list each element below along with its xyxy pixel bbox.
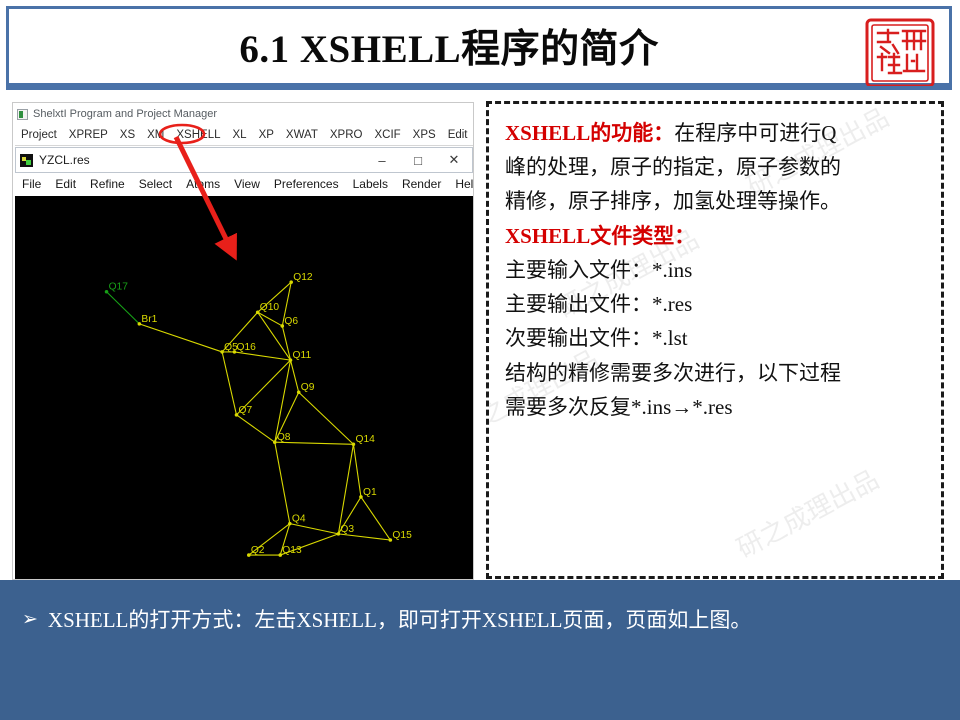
- menu-help-res[interactable]: Help: [448, 177, 474, 191]
- molecule-atom-label: Q8: [277, 432, 291, 443]
- molecule-bond: [353, 444, 361, 497]
- panel-line-6: 主要输出文件：*.res: [505, 287, 927, 321]
- menu-xs[interactable]: XS: [114, 129, 141, 141]
- menu-project[interactable]: Project: [15, 129, 63, 141]
- menu-xshell[interactable]: XSHELL: [170, 129, 226, 141]
- molecule-bond: [258, 312, 283, 326]
- molecule-atom[interactable]: [247, 553, 251, 557]
- close-icon[interactable]: ✕: [436, 152, 472, 168]
- molecule-bond: [139, 324, 222, 352]
- molecule-atom-label: Q13: [282, 545, 302, 556]
- panel-line-1-lead: XSHELL的功能：: [505, 121, 674, 145]
- menu-xm[interactable]: XM: [141, 129, 170, 141]
- watermark-text: 研之成理出品: [729, 460, 884, 566]
- panel-line-5: 主要输入文件：*.ins: [505, 253, 927, 287]
- project-manager-title: ShelxtI Program and Project Manager: [33, 108, 217, 120]
- title-underline: [6, 86, 952, 90]
- res-window-titlebar: YZCL.res – □ ✕: [15, 147, 473, 173]
- menu-xps[interactable]: XPS: [407, 129, 442, 141]
- molecule-bond: [275, 360, 291, 442]
- molecule-atom-label: Q3: [340, 524, 354, 535]
- molecule-bond: [234, 352, 290, 360]
- menu-refine[interactable]: Refine: [83, 177, 132, 191]
- menu-xpro[interactable]: XPRO: [324, 129, 369, 141]
- info-panel: 研之成理出品 研之成理出品 研之成理出品 研之成理出品 XSHELL的功能：在程…: [486, 101, 944, 579]
- molecule-window-icon: [20, 154, 33, 167]
- menu-render[interactable]: Render: [395, 177, 448, 191]
- menu-edit-res[interactable]: Edit: [48, 177, 83, 191]
- menu-xprep[interactable]: XPREP: [63, 129, 114, 141]
- molecule-atom[interactable]: [138, 322, 142, 326]
- molecule-atom[interactable]: [220, 350, 224, 354]
- molecule-atom[interactable]: [281, 324, 285, 328]
- molecule-atom-label: Br1: [141, 314, 157, 325]
- panel-line-1: XSHELL的功能：在程序中可进行Q: [505, 116, 927, 150]
- bottom-bullet: ➢ XSHELL的打开方式：左击XSHELL，即可打开XSHELL页面，页面如上…: [22, 604, 751, 634]
- project-manager-menubar: Project XPREP XS XM XSHELL XL XP XWAT XP…: [15, 125, 473, 145]
- molecule-atom-label: Q6: [284, 316, 298, 327]
- molecule-structure: Q17Br1Q5Q16Q10Q12Q6Q11Q9Q7Q8Q14Q1Q4Q3Q15…: [15, 196, 473, 579]
- molecule-atom[interactable]: [337, 532, 341, 536]
- molecule-atom[interactable]: [359, 495, 363, 499]
- molecule-atom-label: Q11: [293, 350, 312, 361]
- app-screenshot: ShelxtI Program and Project Manager Proj…: [12, 102, 474, 580]
- molecule-atom-label: Q1: [363, 487, 377, 498]
- menu-xl[interactable]: XL: [227, 129, 253, 141]
- molecule-bond: [299, 392, 354, 444]
- panel-line-3: 精修，原子排序，加氢处理等操作。: [505, 184, 927, 218]
- red-seal-icon: [861, 17, 939, 89]
- bullet-marker-icon: ➢: [22, 610, 38, 629]
- menu-xp[interactable]: XP: [253, 129, 280, 141]
- res-window-title: YZCL.res: [39, 153, 90, 167]
- menu-xwat[interactable]: XWAT: [280, 129, 324, 141]
- panel-line-9: 需要多次反复*.ins→*.res: [505, 390, 927, 424]
- molecule-bond: [338, 444, 353, 534]
- molecule-bond: [361, 497, 390, 540]
- molecule-atom[interactable]: [389, 538, 393, 542]
- panel-line-4: XSHELL文件类型：: [505, 219, 927, 253]
- menu-preferences[interactable]: Preferences: [267, 177, 346, 191]
- molecule-atom[interactable]: [289, 358, 293, 362]
- menu-view[interactable]: View: [227, 177, 267, 191]
- menu-atoms[interactable]: Atoms: [179, 177, 227, 191]
- panel-line-8: 结构的精修需要多次进行，以下过程: [505, 356, 927, 390]
- molecule-atom-label: Q2: [251, 545, 265, 556]
- panel-line-1-rest: 在程序中可进行Q: [674, 121, 836, 145]
- molecule-atom[interactable]: [297, 391, 301, 395]
- panel-line-2: 峰的处理，原子的指定，原子参数的: [505, 150, 927, 184]
- molecule-bond: [291, 360, 299, 392]
- molecule-atom[interactable]: [288, 522, 292, 526]
- title-banner: 6.1 XSHELL程序的简介: [6, 6, 952, 86]
- molecule-bond: [107, 292, 140, 324]
- molecule-atom[interactable]: [273, 440, 277, 444]
- molecule-atom[interactable]: [256, 310, 260, 314]
- molecule-bond: [222, 352, 236, 415]
- molecule-bond: [290, 524, 339, 534]
- menu-select[interactable]: Select: [132, 177, 179, 191]
- molecule-atom-label: Q10: [260, 302, 280, 313]
- app-window-icon: [17, 109, 28, 120]
- slide-root: 6.1 XSHELL程序的简介 ShelxtI Program and Proj…: [0, 0, 960, 720]
- page-title: 6.1 XSHELL程序的简介: [9, 9, 949, 83]
- molecule-atom-label: Q4: [292, 514, 306, 525]
- molecule-atom[interactable]: [233, 350, 237, 354]
- menu-xcif[interactable]: XCIF: [368, 129, 406, 141]
- molecule-atom-label: Q15: [392, 530, 412, 541]
- molecule-atom-label: Q16: [236, 342, 256, 353]
- molecule-atom-label: Q17: [109, 282, 129, 293]
- menu-labels[interactable]: Labels: [346, 177, 395, 191]
- minimize-icon[interactable]: –: [364, 153, 400, 168]
- molecule-bond: [236, 415, 274, 442]
- menu-file[interactable]: File: [15, 177, 48, 191]
- maximize-icon[interactable]: □: [400, 153, 436, 168]
- molecule-atom[interactable]: [278, 553, 282, 557]
- molecule-bond: [275, 442, 290, 523]
- molecule-atom[interactable]: [352, 442, 356, 446]
- molecule-atom-label: Q12: [293, 272, 313, 283]
- menu-edit[interactable]: Edit: [442, 129, 474, 141]
- menubar-divider: [15, 145, 473, 146]
- molecule-atom-label: Q9: [301, 382, 315, 393]
- window-controls: – □ ✕: [364, 152, 472, 168]
- panel-line-7: 次要输出文件：*.lst: [505, 321, 927, 355]
- molecule-atom[interactable]: [105, 290, 109, 294]
- project-manager-caption: ShelxtI Program and Project Manager: [17, 105, 217, 123]
- bottom-bar: ➢ XSHELL的打开方式：左击XSHELL，即可打开XSHELL页面，页面如上…: [0, 580, 960, 720]
- molecule-canvas[interactable]: Q17Br1Q5Q16Q10Q12Q6Q11Q9Q7Q8Q14Q1Q4Q3Q15…: [15, 196, 473, 579]
- res-window-menubar: File Edit Refine Select Atoms View Prefe…: [15, 173, 473, 195]
- molecule-atom-label: Q7: [239, 405, 253, 416]
- molecule-atom[interactable]: [235, 413, 239, 417]
- molecule-atom[interactable]: [289, 280, 293, 284]
- molecule-atom-label: Q14: [355, 434, 375, 445]
- bottom-bullet-text: XSHELL的打开方式：左击XSHELL，即可打开XSHELL页面，页面如上图。: [48, 604, 751, 634]
